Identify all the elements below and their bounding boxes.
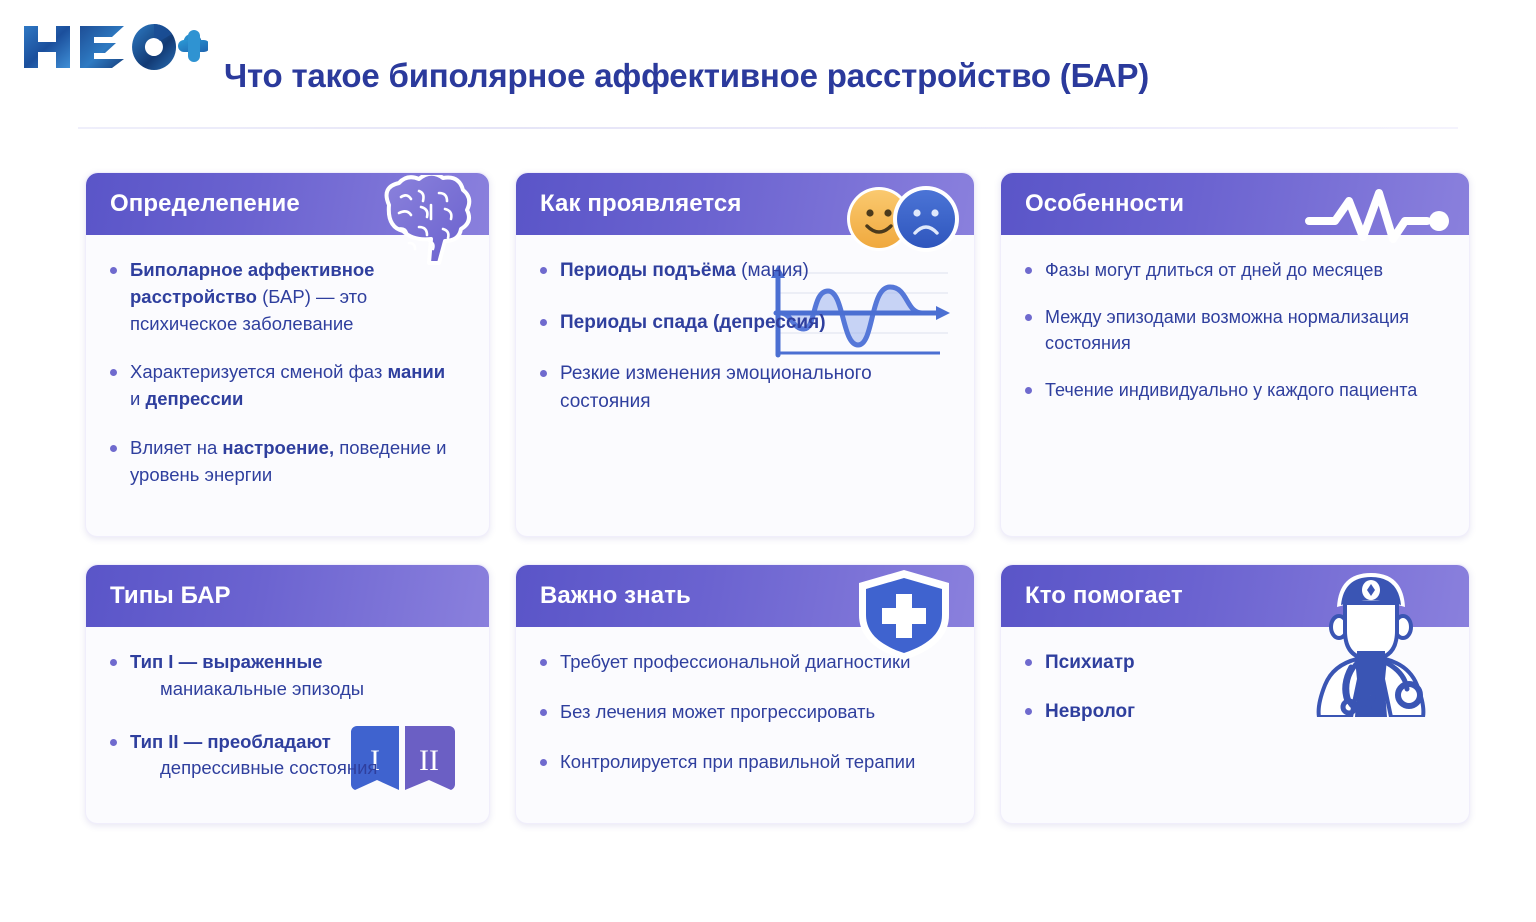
card-body-important: Требует профессиональной диагностики Без…: [516, 627, 974, 808]
card-title: Кто помогает: [1025, 582, 1183, 610]
card-definition[interactable]: Определепение: [85, 172, 490, 537]
list-item: Контролируется при правильной терапии: [538, 749, 935, 776]
list-item: Влияет на настроение, поведение и уровен…: [108, 435, 453, 489]
list-item: Между эпизодами возможна нормализация со…: [1023, 304, 1430, 356]
title-divider: [78, 127, 1458, 129]
list-item: Характеризуется сменой фаз мании и депре…: [108, 359, 453, 413]
bullet-list: Фазы могут длиться от дней до месяцев Ме…: [1023, 257, 1447, 403]
list-item: Тип II — преобладаютдепрессивные состоян…: [108, 729, 453, 783]
card-grid: Определепение: [85, 172, 1460, 824]
list-item: Психиатр: [1023, 649, 1430, 677]
bullet-list: Тип I — выраженныеманиакальные эпизоды Т…: [108, 649, 467, 782]
bullet-list: Периоды подъёма (мания) Периоды спада (д…: [538, 257, 952, 415]
list-item: Без лечения может прогрессировать: [538, 699, 935, 726]
bullet-list: Психиатр Невролог: [1023, 649, 1447, 725]
list-item: Течение индивидуально у каждого пациента: [1023, 377, 1430, 403]
card-title: Особенности: [1025, 190, 1184, 218]
list-item: Биполарное аффективное расстройство (БАР…: [108, 257, 453, 337]
list-item: Требует профессиональной диагностики: [538, 649, 935, 676]
bullet-list: Требует профессиональной диагностики Без…: [538, 649, 952, 775]
card-body-definition: Биполарное аффективное расстройство (БАР…: [86, 235, 489, 521]
card-body-types: Тип I — выраженныеманиакальные эпизоды Т…: [86, 627, 489, 818]
list-item: Тип I — выраженныеманиакальные эпизоды: [108, 649, 453, 703]
list-item: Периоды подъёма (мания): [538, 257, 935, 285]
card-features[interactable]: Особенности Фазы могут длиться от дней д…: [1000, 172, 1470, 537]
card-manifestation[interactable]: Как проявляется: [515, 172, 975, 537]
list-item: Фазы могут длиться от дней до месяцев: [1023, 257, 1430, 283]
card-header-definition: Определепение: [86, 173, 489, 235]
card-who-helps[interactable]: Кто помогает: [1000, 564, 1470, 824]
card-important[interactable]: Важно знать Требует профессиональной диа…: [515, 564, 975, 824]
card-types[interactable]: Типы БАР Тип I — выраженныеманиакальные …: [85, 564, 490, 824]
card-header-manifestation: Как проявляется: [516, 173, 974, 235]
card-title: Типы БАР: [110, 582, 231, 610]
card-header-features: Особенности: [1001, 173, 1469, 235]
card-body-features: Фазы могут длиться от дней до месяцев Ме…: [1001, 235, 1469, 434]
card-body-manifestation: Периоды подъёма (мания) Периоды спада (д…: [516, 235, 974, 449]
card-body-who-helps: Психиатр Невролог: [1001, 627, 1469, 756]
card-header-who-helps: Кто помогает: [1001, 565, 1469, 627]
list-item: Невролог: [1023, 698, 1430, 726]
list-item: Резкие изменения эмоционального состояни…: [538, 360, 935, 415]
neo-plus-logo[interactable]: [18, 18, 208, 76]
card-title: Определепение: [110, 190, 300, 218]
page-header: Что такое биполярное аффективное расстро…: [0, 0, 1536, 140]
page-title: Что такое биполярное аффективное расстро…: [224, 57, 1149, 95]
card-header-important: Важно знать: [516, 565, 974, 627]
bullet-list: Биполарное аффективное расстройство (БАР…: [108, 257, 467, 489]
card-title: Как проявляется: [540, 190, 741, 218]
card-title: Важно знать: [540, 582, 691, 610]
card-header-types: Типы БАР: [86, 565, 489, 627]
list-item: Периоды спада (депрессия): [538, 309, 935, 337]
